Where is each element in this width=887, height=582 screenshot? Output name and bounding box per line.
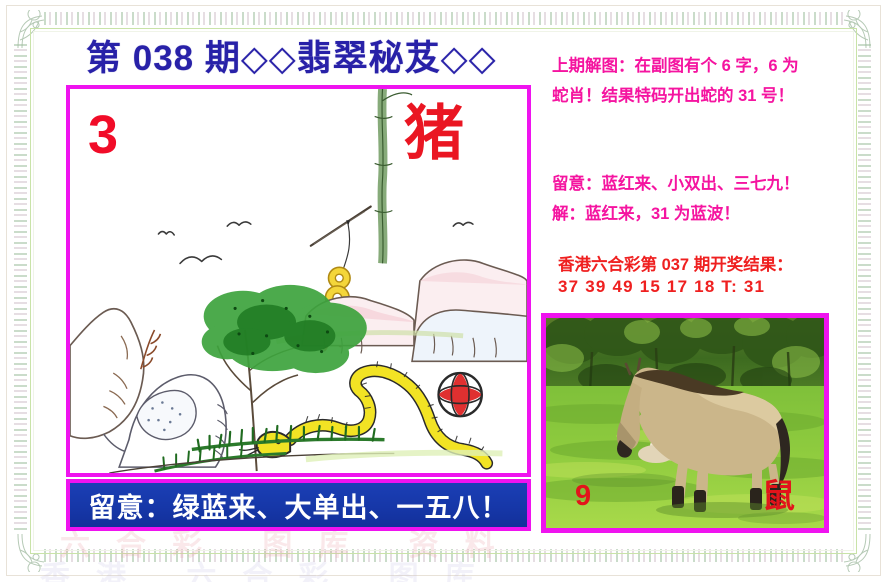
result-title: 香港六合彩第 037 期开奖结果： [558, 251, 793, 275]
ball-ornament-icon [439, 373, 482, 416]
illustration-zodiac: 猪 [404, 104, 464, 164]
ornament-edge-left [14, 44, 27, 531]
tip-banner: 留意：绿蓝来、大单出、一五八！ [66, 479, 531, 531]
page-title: 第 038 期◇◇翡翠秘芨◇◇ [86, 30, 497, 81]
note-line: 留意：蓝红来、小双出、三七九！ [552, 169, 852, 199]
photo-zodiac: 鼠 [762, 479, 795, 512]
ornament-edge-top [44, 12, 844, 25]
photo-number: 9 [575, 482, 591, 511]
explain-line-2: 蛇肖！结果特码开出蛇的 31 号！ [552, 81, 852, 111]
tip-banner-text: 留意：绿蓝来、大单出、一五八！ [89, 486, 509, 525]
ornament-edge-right [858, 44, 871, 531]
answer-line: 解：蓝红来，31 为蓝波！ [552, 199, 852, 229]
result-numbers: 37 39 49 15 17 18 T: 31 [558, 277, 765, 297]
explain-line-1: 上期解图：在副图有个 6 字，6 为 [552, 51, 852, 81]
lottery-poster-page: 六合彩 图库 资料 香港 六合彩 图库 第 038 期◇◇翡翠秘芨◇◇ [0, 0, 887, 582]
illustration-number: 3 [88, 108, 118, 162]
rock-group-right [412, 260, 527, 361]
